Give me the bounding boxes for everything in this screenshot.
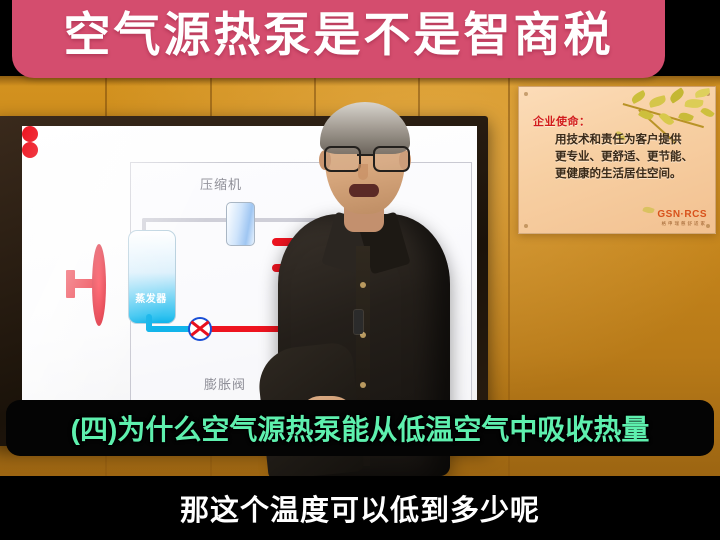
condenser-coil-bend [22,142,38,158]
compressor-label: 压缩机 [200,174,242,193]
shirt-button [360,382,366,388]
pipe-segment-grey [142,218,228,222]
video-player-frame: ▲ 压缩机 蒸发器 [0,0,720,540]
glasses-lens [324,146,361,172]
mission-line: 用技术和责任为客户提供 [555,132,707,149]
mission-heading: 企业使命： [533,113,591,129]
glasses-lens [373,146,410,172]
leaf-icon [684,98,703,109]
logo-tagline: 格申瑞慈舒适家 [657,221,707,227]
panel-screw [524,224,528,228]
leaf-icon [630,90,647,104]
mission-line: 更健康的生活居住空间。 [555,166,707,183]
evaporator-label: 蒸发器 [128,290,174,305]
panel-screw [524,92,528,96]
condenser-coil-bend [22,126,38,142]
expansion-valve-icon [188,317,212,341]
lapel-microphone [354,310,363,334]
compressor-component [226,202,255,246]
secondary-subtitle-bar: 那这个温度可以低到多少呢 [0,476,720,540]
leaf-icon [659,111,675,128]
presenter-nose [358,164,368,180]
leaf-icon [695,88,711,98]
banner-title: 空气源热泵是不是智商税 [64,11,614,78]
mission-line: 更专业、更舒适、更节能、 [555,149,707,166]
mission-body: 用技术和责任为客户提供 更专业、更舒适、更节能、 更健康的生活居住空间。 [555,132,707,183]
leaf-icon [648,95,667,108]
primary-subtitle-bar: (四)为什么空气源热泵能从低温空气中吸收热量 [6,400,714,456]
fan-icon [70,244,118,326]
leaf-icon [668,87,686,103]
expansion-valve-label: 膨胀阀 [204,374,246,393]
glasses-bridge [357,154,373,156]
primary-subtitle-text: (四)为什么空气源热泵能从低温空气中吸收热量 [71,408,650,448]
title-banner: 空气源热泵是不是智商税 [12,0,665,78]
presenter-mouth [349,184,379,197]
fan-blade [92,244,106,326]
logo-wordmark: GSN·RCS [657,209,707,220]
company-mission-panel: 企业使命： 用技术和责任为客户提供 更专业、更舒适、更节能、 更健康的生活居住空… [518,86,716,234]
evaporator-component [128,230,176,324]
secondary-subtitle-text: 那这个温度可以低到多少呢 [180,487,540,529]
company-logo: GSN·RCS 格申瑞慈舒适家 [657,209,707,227]
shirt-button [360,282,366,288]
leaf-icon [642,205,654,214]
leaf-icon [700,106,715,119]
